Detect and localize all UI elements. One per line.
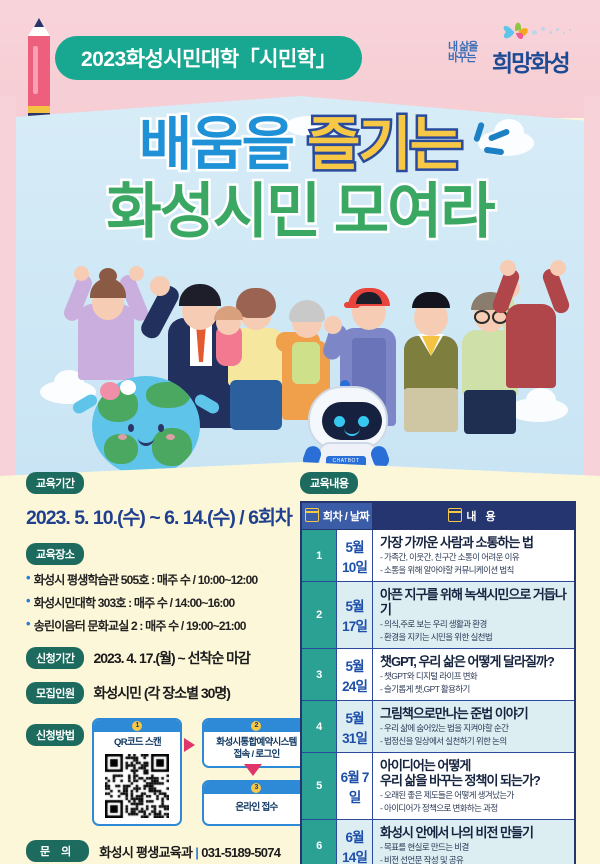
step-2-cap: 2: [204, 720, 308, 732]
list-item: • 화성시민대학 303호 : 매주 수 / 14:00~16:00: [26, 594, 294, 611]
row-sub: - 슬기롭게 챗,GPT 활용하기: [380, 683, 567, 695]
robot-face: [322, 402, 382, 440]
row-sub: - 우리 삶에 숨어있는 법을 지켜야할 순간: [380, 722, 567, 734]
contact-label: 문 의: [26, 840, 89, 862]
contact-separator: |: [195, 845, 198, 860]
row-date: 5월 10일: [337, 530, 373, 582]
earth-flower-white: [120, 380, 136, 395]
people-illustration: CHATBOT: [0, 280, 600, 476]
calendar-icon: [305, 508, 319, 522]
step-3-number: 3: [251, 783, 261, 793]
apply-method-label: 신청방법: [26, 724, 84, 746]
period-label: 교육기간: [26, 472, 84, 494]
document-icon: [448, 508, 462, 522]
apply-period-label: 신청기간: [26, 647, 84, 669]
row-number: 2: [301, 582, 337, 649]
step-2-text: 화성시통합예약시스템 접속 / 로그인: [204, 732, 308, 761]
row-content: 아픈 지구를 위해 녹색시민으로 거듭나기 - 의식,주로 보는 우리 생활과 …: [373, 582, 576, 649]
step-3-text: 온라인 접수: [204, 794, 308, 814]
curriculum-section-label: 교육내용: [300, 472, 358, 494]
row-title: 챗GPT, 우리 삶은 어떻게 달라질까?: [380, 654, 567, 669]
row-sub: - 오래된 좋은 제도들은 어떻게 생겨났는가: [380, 789, 567, 801]
table-row: 2 5월 17일 아픈 지구를 위해 녹색시민으로 거듭나기 - 의식,주로 보…: [301, 582, 575, 649]
step-1-cap: 1: [94, 720, 180, 732]
step-1-card[interactable]: 1 QR코드 스캔: [92, 718, 182, 826]
info-column: 교육기간 2023. 5. 10.(수) ~ 6. 14.(수) / 6회차 교…: [26, 472, 294, 862]
row-number: 4: [301, 701, 337, 753]
place-block: 교육장소 • 화성시 평생학습관 505호 : 매주 수 / 10:00~12:…: [26, 543, 294, 634]
bullet-icon: •: [26, 594, 30, 607]
row-content: 아이디어는 어떻게 우리 삶을 바꾸는 정책이 되는가? - 오래된 좋은 제도…: [373, 753, 576, 820]
row-content: 화성시 안에서 나의 비전 만들기 - 목표를 현실로 만드는 비결 - 비전 …: [373, 820, 576, 864]
row-title: 가장 가까운 사람과 소통하는 법: [380, 535, 567, 550]
sparkle-icon: [462, 122, 508, 164]
logo-main-text: 희망화성: [492, 44, 569, 78]
quota-block: 모집인원 화성시민 (각 장소별 30명): [26, 682, 294, 704]
place-label: 교육장소: [26, 543, 84, 565]
headline-line1-part1: 배움을: [139, 116, 293, 174]
row-sub: - 환경을 지키는 시민을 위한 실천법: [380, 631, 567, 643]
step-1-text: QR코드 스캔: [94, 732, 180, 749]
quota-label: 모집인원: [26, 682, 84, 704]
table-row: 3 5월 24일 챗GPT, 우리 삶은 어떻게 달라질까? - 챗GPT와 디…: [301, 649, 575, 701]
arrow-right-icon: [184, 738, 195, 752]
contact-phone[interactable]: 031-5189-5074: [201, 845, 280, 860]
row-title: 아픈 지구를 위해 녹색시민으로 거듭나기: [380, 587, 567, 617]
chatbot-robot: CHATBOT: [304, 380, 388, 476]
table-row: 6 6월 14일 화성시 안에서 나의 비전 만들기 - 목표를 현실로 만드는…: [301, 820, 575, 864]
row-number: 3: [301, 649, 337, 701]
main-headline: 배움을 즐기는 화성시민 모여라: [0, 116, 600, 242]
row-sub: - 비전 선언문 작성 및 공유: [380, 854, 567, 864]
table-row: 5 6월 7일 아이디어는 어떻게 우리 삶을 바꾸는 정책이 되는가? - 오…: [301, 753, 575, 820]
table-row: 4 5월 31일 그림책으로만나는 준법 이야기 - 우리 삶에 숨어있는 법을…: [301, 701, 575, 753]
flower-icon: [500, 20, 534, 44]
quota-value: 화성시민 (각 장소별 30명): [93, 683, 230, 703]
step-2-card[interactable]: 2 화성시통합예약시스템 접속 / 로그인: [202, 718, 310, 768]
program-title-pill: 2023화성시민대학「시민학」: [55, 36, 362, 80]
row-date: 6월 14일: [337, 820, 373, 864]
table-header-row: 회차 / 날짜 내 용: [301, 502, 575, 530]
step-3-card[interactable]: 3 온라인 접수: [202, 780, 310, 826]
row-date: 5월 17일: [337, 582, 373, 649]
program-title-text: 2023화성시민대학「시민학」: [81, 43, 336, 73]
row-date: 5월 24일: [337, 649, 373, 701]
row-sub: - 아이디어가 정책으로 변화하는 과정: [380, 802, 567, 814]
row-title: 그림책으로만나는 준법 이야기: [380, 706, 567, 721]
list-item: • 송린이음터 문화교실 2 : 매주 수 / 19:00~21:00: [26, 617, 294, 634]
step-2-number: 2: [251, 721, 261, 731]
logo-sub: 내 삶을 바꾸는: [448, 42, 477, 64]
curriculum-table: 회차 / 날짜 내 용 1 5월 10일 가장 가까운 사람과 소통하는 법 -…: [300, 501, 576, 864]
contact-block: 문 의 화성시 평생교육과|031-5189-5074: [26, 840, 294, 862]
apply-method-block: 신청방법 1 QR코드 스캔 2 화성시통합예약: [26, 718, 294, 822]
list-item: • 화성시 평생학습관 505호 : 매주 수 / 10:00~12:00: [26, 571, 294, 588]
bullet-icon: •: [26, 617, 30, 630]
row-title: 아이디어는 어떻게 우리 삶을 바꾸는 정책이 되는가?: [380, 758, 567, 788]
row-sub: - 목표를 현실로 만드는 비결: [380, 841, 567, 853]
step-3-cap: 3: [204, 782, 308, 794]
row-sub: - 법정신을 일상에서 실천하기 위한 논의: [380, 735, 567, 747]
bullet-icon: •: [26, 571, 30, 584]
headline-line1-part2: 즐기는: [307, 116, 461, 174]
place-text: 화성시 평생학습관 505호 : 매주 수 / 10:00~12:00: [34, 571, 258, 588]
contact-dept: 화성시 평생교육과: [99, 845, 192, 860]
pencil-icon: [28, 18, 50, 124]
row-number: 6: [301, 820, 337, 864]
period-value: 2023. 5. 10.(수) ~ 6. 14.(수) / 6회차: [26, 501, 294, 530]
earth-flower-pink: [100, 382, 120, 400]
row-content: 챗GPT, 우리 삶은 어떻게 달라질까? - 챗GPT와 디지털 라이프 변화…: [373, 649, 576, 701]
place-list: • 화성시 평생학습관 505호 : 매주 수 / 10:00~12:00 • …: [26, 571, 294, 634]
apply-period-block: 신청기간 2023. 4. 17.(월) ~ 선착순 마감: [26, 647, 294, 669]
qr-code-icon[interactable]: [105, 754, 169, 818]
headline-line2: 화성시민 모여라: [106, 182, 493, 242]
table-row: 1 5월 10일 가장 가까운 사람과 소통하는 법 - 가족간, 이웃간, 친…: [301, 530, 575, 582]
col-header-session-date: 회차 / 날짜: [301, 502, 373, 530]
logo-dots: [532, 26, 576, 42]
row-date: 5월 31일: [337, 701, 373, 753]
apply-flow: 1 QR코드 스캔 2 화성시통합예약시스템 접속 / 로그인: [92, 718, 294, 822]
hope-hwaseong-logo: 내 삶을 바꾸는 희망화성: [448, 18, 578, 80]
robot-head: [308, 386, 388, 450]
row-number: 5: [301, 753, 337, 820]
contact-value: 화성시 평생교육과|031-5189-5074: [99, 842, 280, 861]
place-text: 송린이음터 문화교실 2 : 매주 수 / 19:00~21:00: [34, 617, 246, 634]
row-number: 1: [301, 530, 337, 582]
row-sub: - 챗GPT와 디지털 라이프 변화: [380, 670, 567, 682]
row-sub: - 가족간, 이웃간, 친구간 소통이 어려운 이유: [380, 551, 567, 563]
period-block: 교육기간 2023. 5. 10.(수) ~ 6. 14.(수) / 6회차: [26, 472, 294, 530]
row-content: 그림책으로만나는 준법 이야기 - 우리 삶에 숨어있는 법을 지켜야할 순간 …: [373, 701, 576, 753]
row-sub: - 의식,주로 보는 우리 생활과 환경: [380, 618, 567, 630]
robot-mouth: [344, 426, 360, 436]
step-1-number: 1: [132, 721, 142, 731]
poster-root: 2023화성시민대학「시민학」 내 삶을 바꾸는 희망화성 배: [0, 0, 600, 864]
logo-sub-line2: 바꾸는: [448, 53, 477, 64]
arrow-down-icon: [244, 764, 262, 776]
row-sub: - 소통을 위해 알아야할 커뮤니케이션 법칙: [380, 564, 567, 576]
apply-period-value: 2023. 4. 17.(월) ~ 선착순 마감: [93, 648, 249, 668]
col-header-content: 내 용: [373, 502, 576, 530]
place-text: 화성시민대학 303호 : 매주 수 / 14:00~16:00: [34, 594, 235, 611]
row-date: 6월 7일: [337, 753, 373, 820]
row-content: 가장 가까운 사람과 소통하는 법 - 가족간, 이웃간, 친구간 소통이 어려…: [373, 530, 576, 582]
curriculum-column: 교육내용 회차 / 날짜 내 용 1 5월 10일 가장 가까운 사람: [300, 472, 576, 864]
row-title: 화성시 안에서 나의 비전 만들기: [380, 825, 567, 840]
